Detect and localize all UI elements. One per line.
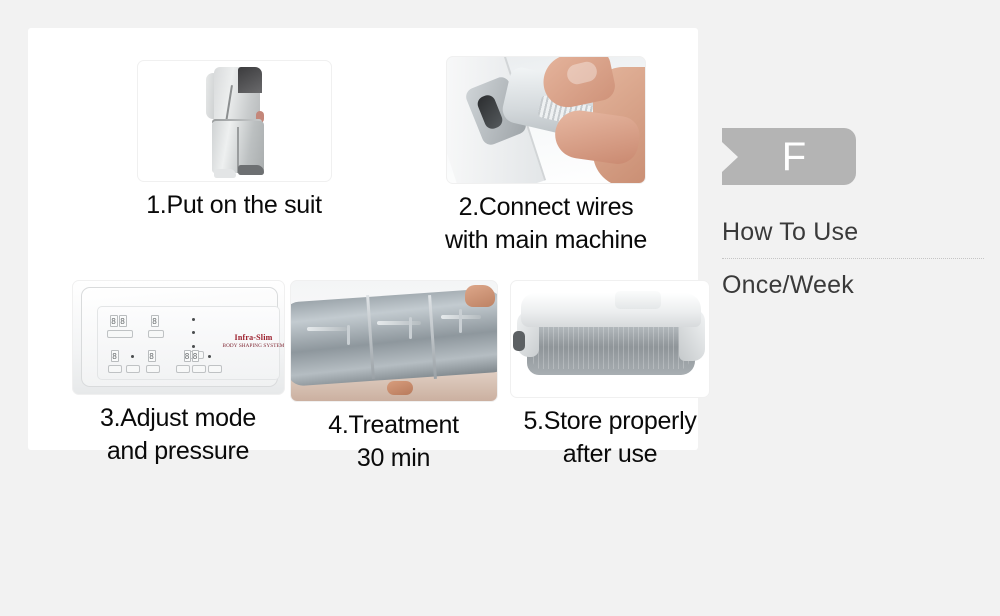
info-value-frequency: Once/Week [722, 271, 986, 300]
control-unit-faceplate: Infra-Slim BODY SHAPING SYSTEM [97, 306, 280, 380]
person-foot [387, 381, 413, 395]
led-5 [208, 355, 211, 358]
button-row2-2 [126, 365, 140, 373]
shoe-left [214, 169, 236, 178]
step-panel-2: 2.Connect wires with main machine [416, 56, 676, 256]
step-4-caption: 4.Treatment 30 min [286, 409, 501, 474]
step-2-caption: 2.Connect wires with main machine [416, 191, 676, 256]
display-5a [184, 350, 191, 362]
button-row2-4 [176, 365, 190, 373]
step-panel-5: 5.Store properly after use [490, 280, 730, 470]
display-3a [111, 350, 119, 362]
display-2a [151, 315, 159, 327]
suit-strap-1 [307, 327, 347, 331]
info-column: F How To Use Once/Week [722, 128, 986, 300]
air-tube-1 [347, 325, 350, 345]
led-1 [192, 318, 195, 321]
display-5b [192, 350, 199, 362]
display-1b [119, 315, 127, 327]
info-divider [722, 258, 984, 259]
device-brand: Infra-Slim [216, 333, 285, 342]
air-tube-3 [459, 309, 462, 333]
led-2 [192, 331, 195, 334]
folded-suit-flap [521, 293, 701, 327]
button-row2-1 [108, 365, 122, 373]
button-row1-1 [107, 330, 133, 338]
section-letter-badge: F [722, 128, 856, 185]
folded-suit-tab [615, 291, 661, 309]
how-to-use-card: 1.Put on the suit 2.Connect wires with m… [28, 28, 698, 450]
step-1-photo [137, 60, 332, 182]
badge-letter-text: F [772, 137, 806, 177]
step-3-photo: Infra-Slim BODY SHAPING SYSTEM [72, 280, 285, 395]
step-panel-3: Infra-Slim BODY SHAPING SYSTEM [62, 280, 294, 467]
button-row1-2 [148, 330, 164, 338]
shoe-right [238, 165, 264, 175]
control-unit: Infra-Slim BODY SHAPING SYSTEM [81, 287, 278, 387]
air-tube-2 [409, 317, 412, 339]
display-1a [110, 315, 118, 327]
info-title: How To Use [722, 218, 986, 247]
device-brand-subtitle: BODY SHAPING SYSTEM [212, 343, 285, 349]
step-3-caption: 3.Adjust mode and pressure [62, 402, 294, 467]
button-row2-5 [192, 365, 206, 373]
button-row2-6 [208, 365, 222, 373]
suit-shoulder-dark [238, 67, 262, 93]
step-4-photo [290, 280, 498, 402]
led-4 [131, 355, 134, 358]
display-4a [148, 350, 156, 362]
folded-suit-connector [513, 331, 525, 351]
button-row2-3 [146, 365, 160, 373]
led-3 [192, 345, 195, 348]
step-panel-4: 4.Treatment 30 min [286, 280, 501, 474]
step-2-photo [446, 56, 646, 184]
step-panel-1: 1.Put on the suit [104, 60, 364, 222]
suit-strap-2 [377, 321, 421, 325]
step-5-photo [510, 280, 710, 398]
page-root: 1.Put on the suit 2.Connect wires with m… [0, 0, 1000, 616]
step-1-caption: 1.Put on the suit [104, 189, 364, 222]
step-5-caption: 5.Store properly after use [490, 405, 730, 470]
